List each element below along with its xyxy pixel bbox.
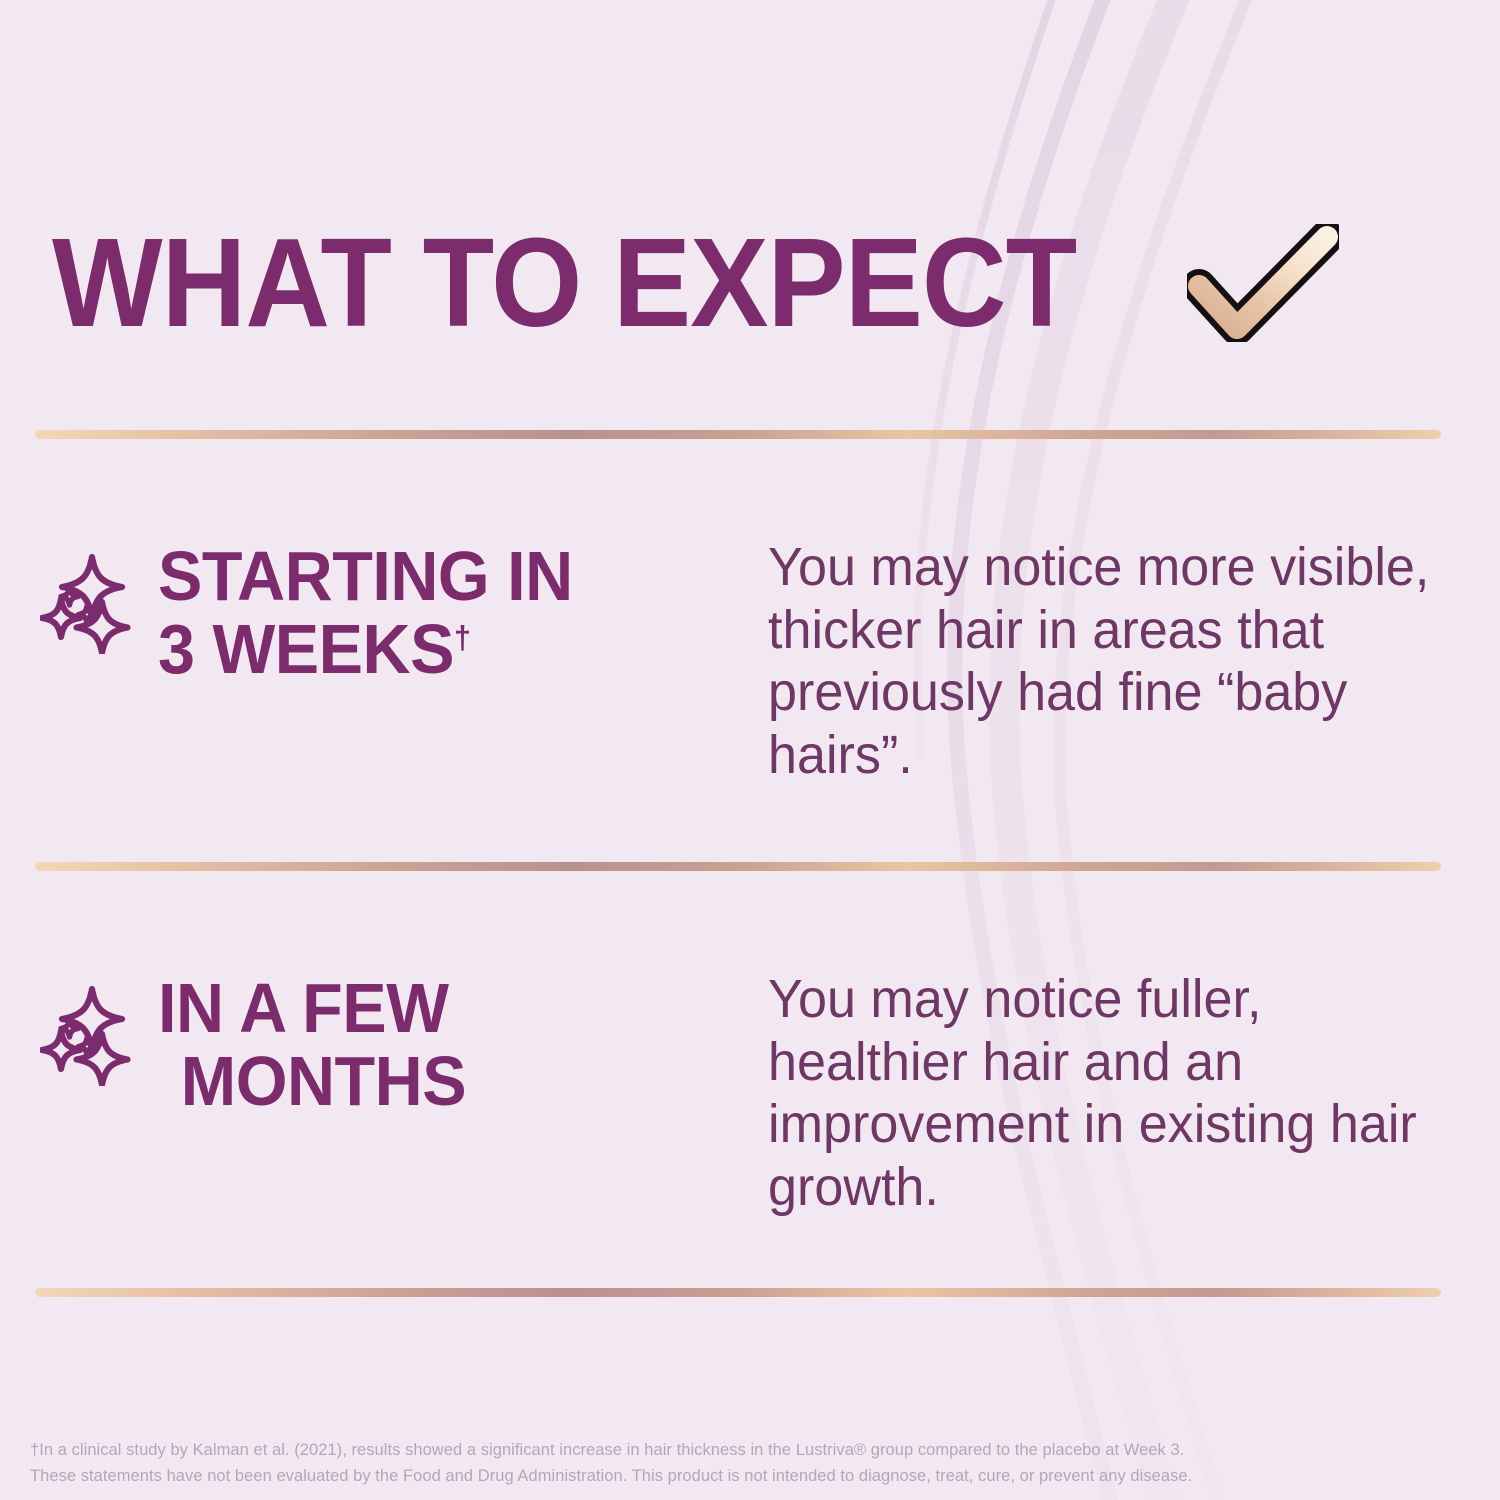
row-1-heading-line-2: 3 WEEKS† <box>158 613 728 686</box>
row-1-heading-line-2-text: 3 WEEKS <box>158 610 454 688</box>
infographic-page: WHAT TO EXPECT <box>0 0 1500 1500</box>
row-2-body-cell: You may notice fuller, healthier hair an… <box>758 968 1460 1219</box>
row-1-body-cell: You may notice more visible, thicker hai… <box>758 536 1460 787</box>
row-2-body-text: You may notice fuller, healthier hair an… <box>768 968 1436 1219</box>
checkmark-icon <box>1187 224 1339 342</box>
footnote-line-2: These statements have not been evaluated… <box>30 1464 1330 1490</box>
header: WHAT TO EXPECT <box>52 218 1452 348</box>
expectation-row-1: STARTING IN 3 WEEKS† You may notice more… <box>40 536 1460 787</box>
sparkles-icon <box>40 968 158 1086</box>
row-2-heading-line-2: MONTHS <box>158 1045 728 1118</box>
divider-middle <box>35 862 1441 871</box>
row-2-heading: IN A FEW MONTHS <box>158 972 728 1118</box>
row-1-heading-cell: STARTING IN 3 WEEKS† <box>158 536 758 686</box>
row-1-heading-line-1: STARTING IN <box>158 537 573 615</box>
page-title: WHAT TO EXPECT <box>52 220 1076 346</box>
divider-bottom <box>35 1288 1441 1297</box>
footnote-line-1: †In a clinical study by Kalman et al. (2… <box>30 1438 1330 1464</box>
row-2-heading-line-1: IN A FEW <box>158 969 448 1047</box>
expectation-row-2: IN A FEW MONTHS You may notice fuller, h… <box>40 968 1460 1219</box>
row-1-heading: STARTING IN 3 WEEKS† <box>158 540 728 686</box>
footnote: †In a clinical study by Kalman et al. (2… <box>30 1438 1330 1489</box>
row-1-body-text: You may notice more visible, thicker hai… <box>768 536 1436 787</box>
divider-top <box>35 430 1441 439</box>
row-1-dagger-superscript: † <box>454 620 471 656</box>
row-2-heading-cell: IN A FEW MONTHS <box>158 968 758 1118</box>
sparkles-icon <box>40 536 158 654</box>
